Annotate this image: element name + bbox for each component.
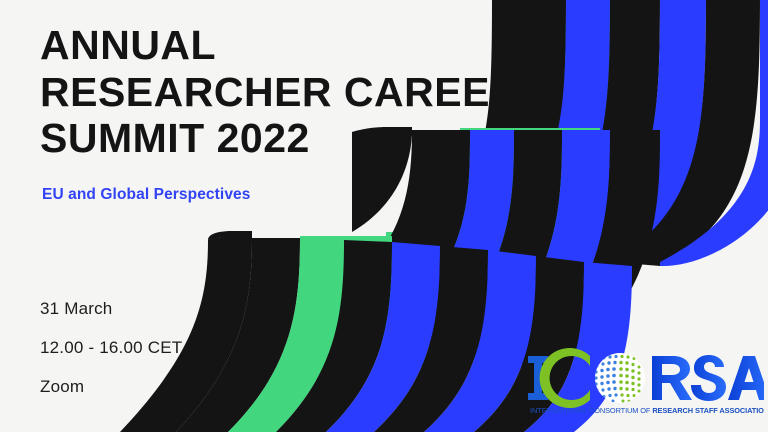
title-line-1: ANNUAL [40, 22, 510, 69]
title-line-2: RESEARCHER CAREER [40, 69, 510, 116]
event-banner: ANNUAL RESEARCHER CAREER SUMMIT 2022 EU … [0, 0, 768, 432]
headline-block: ANNUAL RESEARCHER CAREER SUMMIT 2022 EU … [40, 22, 510, 204]
page-title: ANNUAL RESEARCHER CAREER SUMMIT 2022 [40, 22, 510, 162]
logo-globe-icon [594, 353, 645, 403]
event-details: 31 March 12.00 - 16.00 CET Zoom [40, 300, 182, 395]
event-time: 12.00 - 16.00 CET [40, 339, 182, 356]
event-date: 31 March [40, 300, 182, 317]
title-line-3: SUMMIT 2022 [40, 115, 510, 162]
logo-tagline: INTERNATIONAL CONSORTIUM OF RESEARCH STA… [530, 406, 764, 415]
icorsa-logo: INTERNATIONAL CONSORTIUM OF RESEARCH STA… [528, 348, 764, 416]
page-subtitle: EU and Global Perspectives [42, 186, 510, 204]
event-platform: Zoom [40, 378, 182, 395]
logo-tagline-regular: INTERNATIONAL CONSORTIUM OF [530, 406, 652, 415]
wave-left-tail [0, 234, 208, 292]
logo-text-rsa [652, 355, 764, 401]
logo-tagline-bold: RESEARCH STAFF ASSOCIATIONS [652, 406, 764, 415]
